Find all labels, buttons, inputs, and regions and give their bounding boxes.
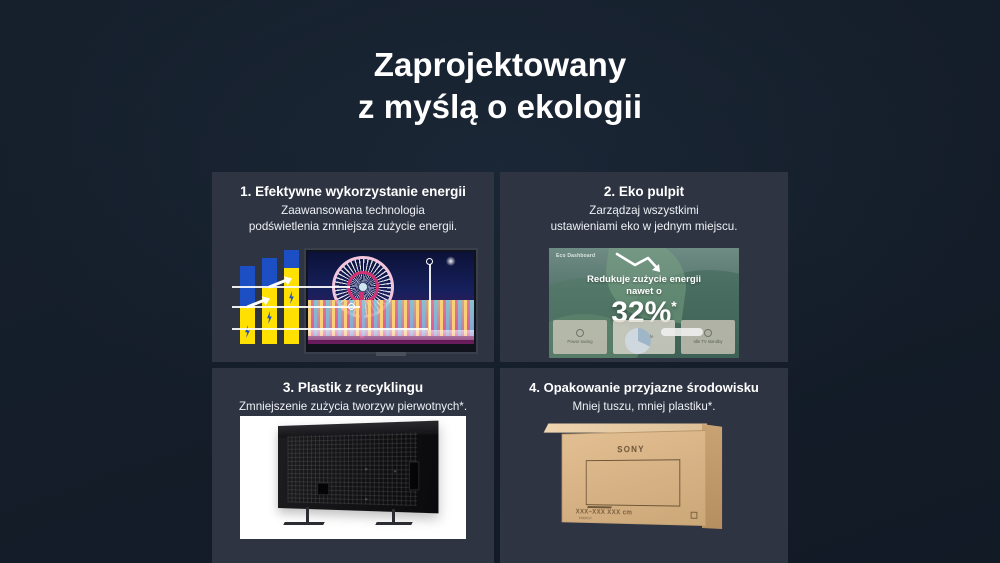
panel-3-header: 3. Plastik z recyklingu Zmniejszenie zuż… xyxy=(212,368,494,415)
tv-port-cover xyxy=(317,482,329,495)
callout-line xyxy=(232,286,350,288)
eco-card-label: Power saving xyxy=(567,339,592,344)
carton-note-text: ENERGY xyxy=(579,516,592,520)
eco-card-icon xyxy=(704,329,712,337)
tv-stand xyxy=(376,352,406,356)
eco-card-icon xyxy=(576,329,584,337)
cardboard-packaging-illustration: SONY XXX–XXX XXX cm ENERGY xyxy=(526,416,762,544)
page-title: Zaprojektowany z myślą o ekologii xyxy=(0,44,1000,128)
panel-2-subtitle: Zarządzaj wszystkimi ustawieniami eko w … xyxy=(508,203,780,234)
eco-dashboard-label: Eco Dashboard xyxy=(556,253,595,259)
energy-bars-and-tv-illustration xyxy=(230,248,478,360)
tv-rear-texture xyxy=(288,432,418,506)
eco-percentage-asterisk: * xyxy=(671,298,676,314)
carton-spec-value: XXX–XXX XXX cm xyxy=(576,509,633,517)
panel-2-subtitle-line-2: ustawieniami eko w jednym miejscu. xyxy=(551,220,738,233)
callout-vertical-line xyxy=(429,264,431,330)
city-lights-foreground xyxy=(308,330,474,340)
panel-3-title: 3. Plastik z recyklingu xyxy=(220,380,486,396)
feature-grid: 1. Efektywne wykorzystanie energii Zaawa… xyxy=(212,172,788,563)
tv-leg-post xyxy=(306,507,309,523)
tv-screw xyxy=(394,470,396,472)
carton-front-face: SONY XXX–XXX XXX cm ENERGY xyxy=(562,430,706,526)
panel-4-subtitle: Mniej tuszu, mniej plastiku*. xyxy=(508,399,780,414)
tv-leg-post xyxy=(392,509,395,523)
panel-1-header: 1. Efektywne wykorzystanie energii Zaawa… xyxy=(212,172,494,234)
panel-1-subtitle-line-1: Zaawansowana technologia xyxy=(281,204,425,217)
tv-port-cover xyxy=(409,461,420,490)
panel-3-subtitle: Zmniejszenie zużycia tworzyw pierwotnych… xyxy=(220,399,486,414)
tv-screw xyxy=(365,498,367,500)
tv-rear-panel xyxy=(278,421,438,514)
page-title-line-2: z myślą o ekologii xyxy=(0,86,1000,128)
panel-1-subtitle-line-2: podświetlenia zmniejsza zużycie energii. xyxy=(249,220,457,233)
ring-chart-graphic xyxy=(625,328,651,354)
callout-line xyxy=(232,328,428,330)
callout-dot xyxy=(348,303,355,310)
energy-bar-3 xyxy=(284,250,299,344)
panel-1-title: 1. Efektywne wykorzystanie energii xyxy=(220,184,486,200)
tv-screen-content xyxy=(308,252,474,344)
eco-dashboard-screenshot: Eco Dashboard Redukuje zużycie energii n… xyxy=(549,248,739,358)
slider-track[interactable] xyxy=(661,328,703,336)
carton-tv-outline xyxy=(586,459,680,506)
panel-4-title: 4. Opakowanie przyjazne środowisku xyxy=(508,380,780,396)
feature-panel-energy-efficiency[interactable]: 1. Efektywne wykorzystanie energii Zaawa… xyxy=(212,172,494,362)
page-title-line-1: Zaprojektowany xyxy=(374,46,627,83)
feature-panel-recycled-plastic[interactable]: 3. Plastik z recyklingu Zmniejszenie zuż… xyxy=(212,368,494,563)
feature-panel-eco-packaging[interactable]: 4. Opakowanie przyjazne środowisku Mniej… xyxy=(500,368,788,563)
carton-spec-text: XXX–XXX XXX cm xyxy=(576,509,696,518)
eco-card-label: Idle TV standby xyxy=(693,339,722,344)
eco-card[interactable]: Idle TV standby xyxy=(681,320,735,354)
callout-line xyxy=(232,306,360,308)
panel-1-subtitle: Zaawansowana technologia podświetlenia z… xyxy=(220,203,486,234)
tv-leg-foot xyxy=(283,522,324,525)
tv-screw xyxy=(365,468,367,470)
tv-illustration xyxy=(304,248,478,354)
feature-panel-eco-dashboard[interactable]: 2. Eko pulpit Zarządzaj wszystkimi ustaw… xyxy=(500,172,788,362)
panel-2-header: 2. Eko pulpit Zarządzaj wszystkimi ustaw… xyxy=(500,172,788,234)
energy-bar-chart-graphic xyxy=(238,250,302,350)
tv-rear-view-photo xyxy=(240,416,466,539)
eco-overlay-line-1: Redukuje zużycie energii xyxy=(587,274,701,285)
carton-mark-icon xyxy=(691,512,698,519)
panel-2-subtitle-line-1: Zarządzaj wszystkimi xyxy=(589,204,699,217)
panel-2-title: 2. Eko pulpit xyxy=(508,184,780,200)
eco-card[interactable]: Power saving xyxy=(553,320,607,354)
eco-dashboard-cards: Power saving Eco mode Idle TV standby xyxy=(553,320,735,354)
tv-leg-foot xyxy=(375,522,412,525)
promo-page: Zaprojektowany z myślą o ekologii 1. Efe… xyxy=(0,0,1000,563)
eco-overlay-text: Redukuje zużycie energii nawet o xyxy=(549,274,739,297)
energy-bar-1-fill xyxy=(240,306,255,344)
panel-4-header: 4. Opakowanie przyjazne środowisku Mniej… xyxy=(500,368,788,414)
sony-logo: SONY xyxy=(562,443,705,455)
